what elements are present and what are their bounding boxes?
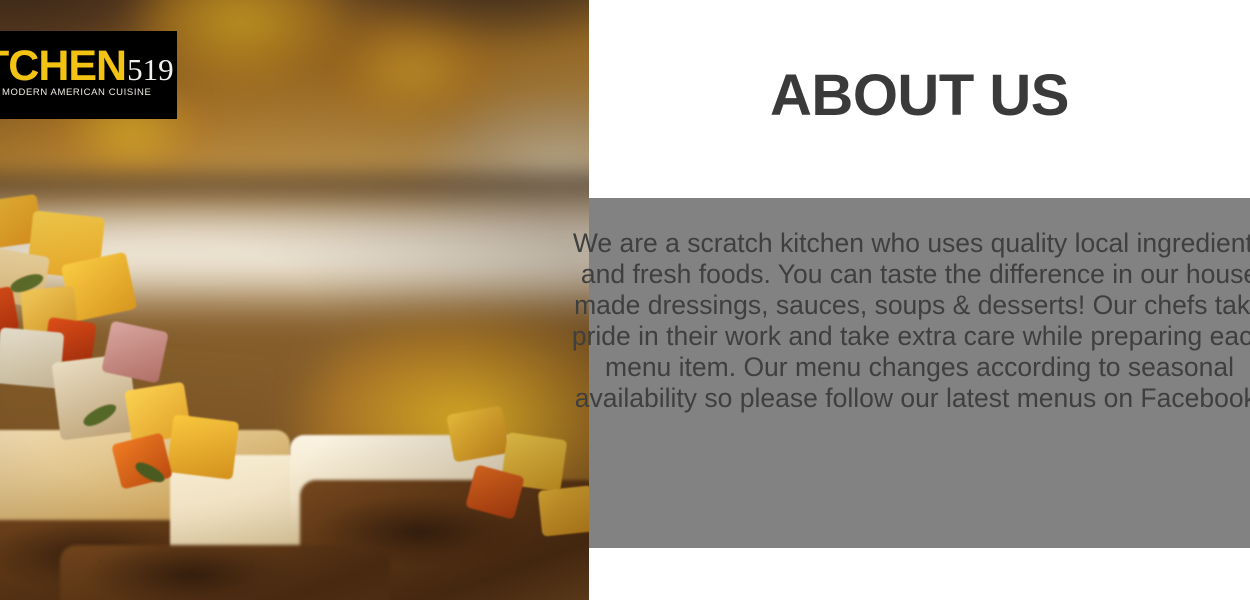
- food-photo: KITCHEN519 MODERN AMERICAN CUISINE: [0, 0, 589, 600]
- about-section: ABOUT US We are a scratch kitchen who us…: [589, 0, 1250, 600]
- about-us-page: KITCHEN519 MODERN AMERICAN CUISINE ABOUT…: [0, 0, 1250, 600]
- salsa-spill-right: [430, 400, 589, 560]
- restaurant-logo[interactable]: KITCHEN519 MODERN AMERICAN CUISINE: [0, 31, 177, 119]
- logo-tagline: MODERN AMERICAN CUISINE: [0, 87, 177, 98]
- logo-wordmark: KITCHEN519: [0, 44, 177, 92]
- logo-number: 519: [127, 48, 174, 92]
- mango-salsa-mound: [0, 180, 370, 510]
- page-title: ABOUT US: [589, 64, 1250, 128]
- about-text-band: We are a scratch kitchen who uses qualit…: [589, 198, 1250, 548]
- logo-name: KITCHEN: [0, 44, 126, 88]
- blackened-crust-bottom: [60, 545, 390, 600]
- about-body-text: We are a scratch kitchen who uses qualit…: [571, 228, 1250, 414]
